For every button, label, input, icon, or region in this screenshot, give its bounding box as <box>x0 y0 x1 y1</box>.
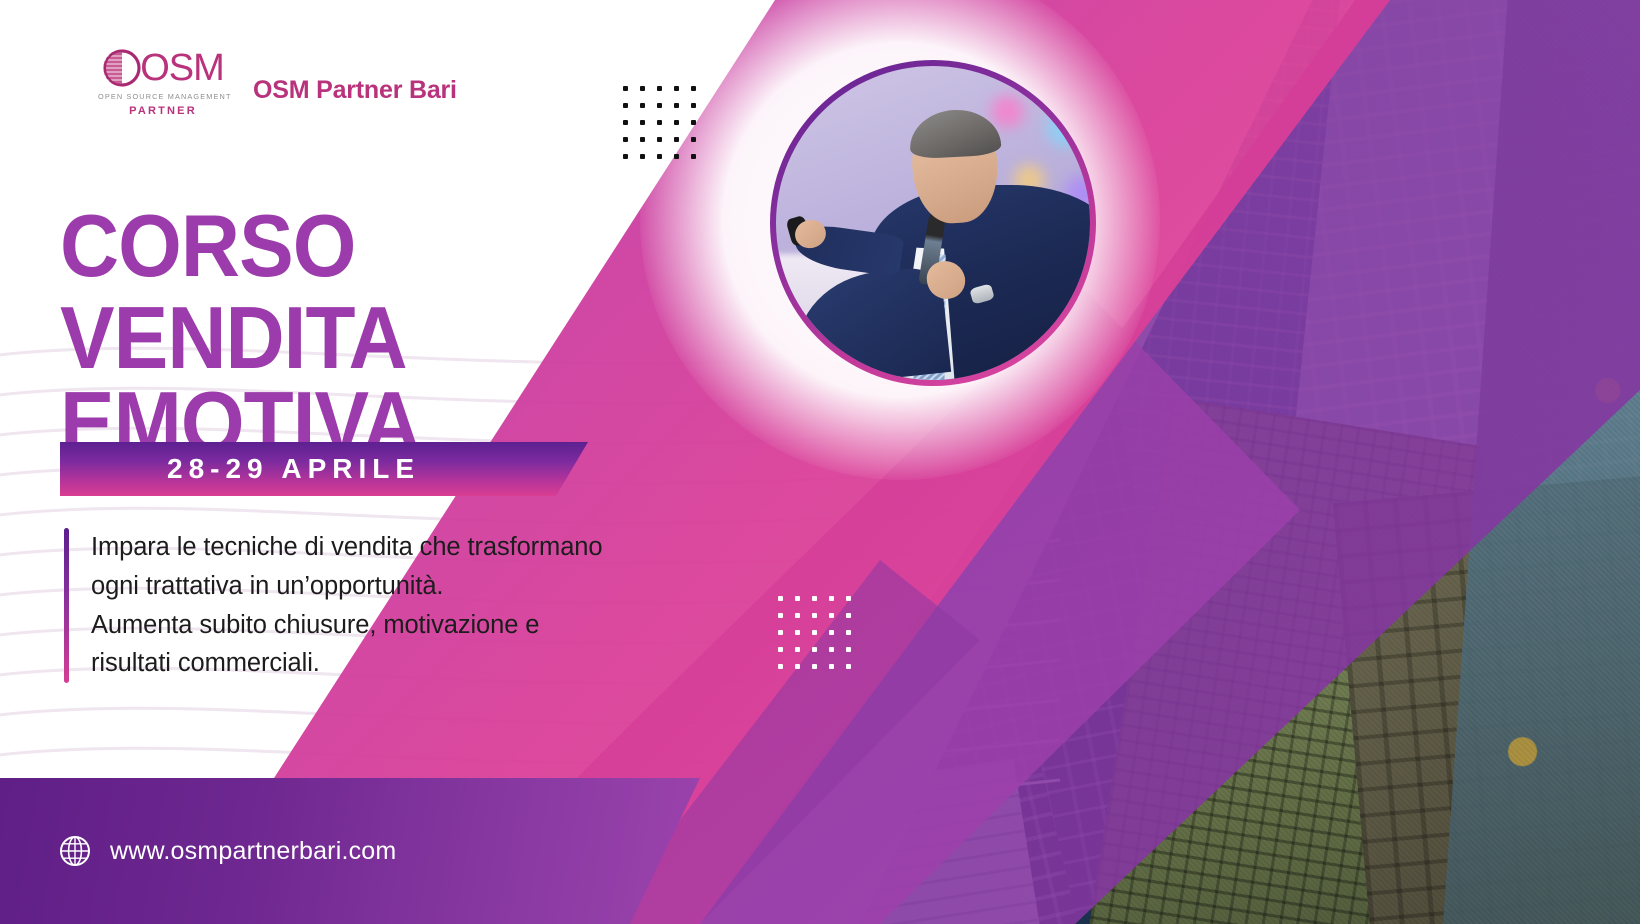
osm-logo[interactable]: OSM OPEN SOURCE MANAGEMENT PARTNER <box>98 48 228 117</box>
dot-grid-middle <box>778 596 851 669</box>
title-line-1: CORSO <box>60 204 767 288</box>
logo-row: OSM <box>98 48 228 88</box>
osm-globe-mark-icon <box>102 48 142 88</box>
website-url[interactable]: www.osmpartnerbari.com <box>110 837 396 866</box>
footer-bar: www.osmpartnerbari.com <box>0 778 700 924</box>
description-block: Impara le tecniche di vendita che trasfo… <box>64 528 764 683</box>
description-line-4: risultati commerciali. <box>91 644 602 683</box>
description-accent-bar <box>64 528 69 683</box>
description-line-1: Impara le tecniche di vendita che trasfo… <box>91 528 602 567</box>
date-text: 28-29 APRILE <box>60 453 420 485</box>
logo-tagline: OPEN SOURCE MANAGEMENT <box>98 92 228 101</box>
dot-grid-top <box>623 86 696 159</box>
speaker-avatar <box>770 60 1096 386</box>
page-title: CORSO VENDITA EMOTIVA <box>60 204 767 465</box>
date-ribbon: 28-29 APRILE <box>60 442 588 496</box>
footer-content: www.osmpartnerbari.com <box>0 834 396 868</box>
description-text: Impara le tecniche di vendita che trasfo… <box>91 528 602 683</box>
logo-wordmark: OSM <box>140 49 224 87</box>
poster-canvas: OSM OPEN SOURCE MANAGEMENT PARTNER OSM P… <box>0 0 1640 924</box>
description-line-2: ogni trattativa in un’opportunità. <box>91 567 602 606</box>
speaker-portrait <box>776 66 1090 380</box>
logo-partner-label: PARTNER <box>98 105 228 117</box>
globe-icon <box>58 834 92 868</box>
description-line-3: Aumenta subito chiusure, motivazione e <box>91 606 602 645</box>
title-line-2: VENDITA EMOTIVA <box>60 296 767 465</box>
brand-name: OSM Partner Bari <box>253 76 457 105</box>
